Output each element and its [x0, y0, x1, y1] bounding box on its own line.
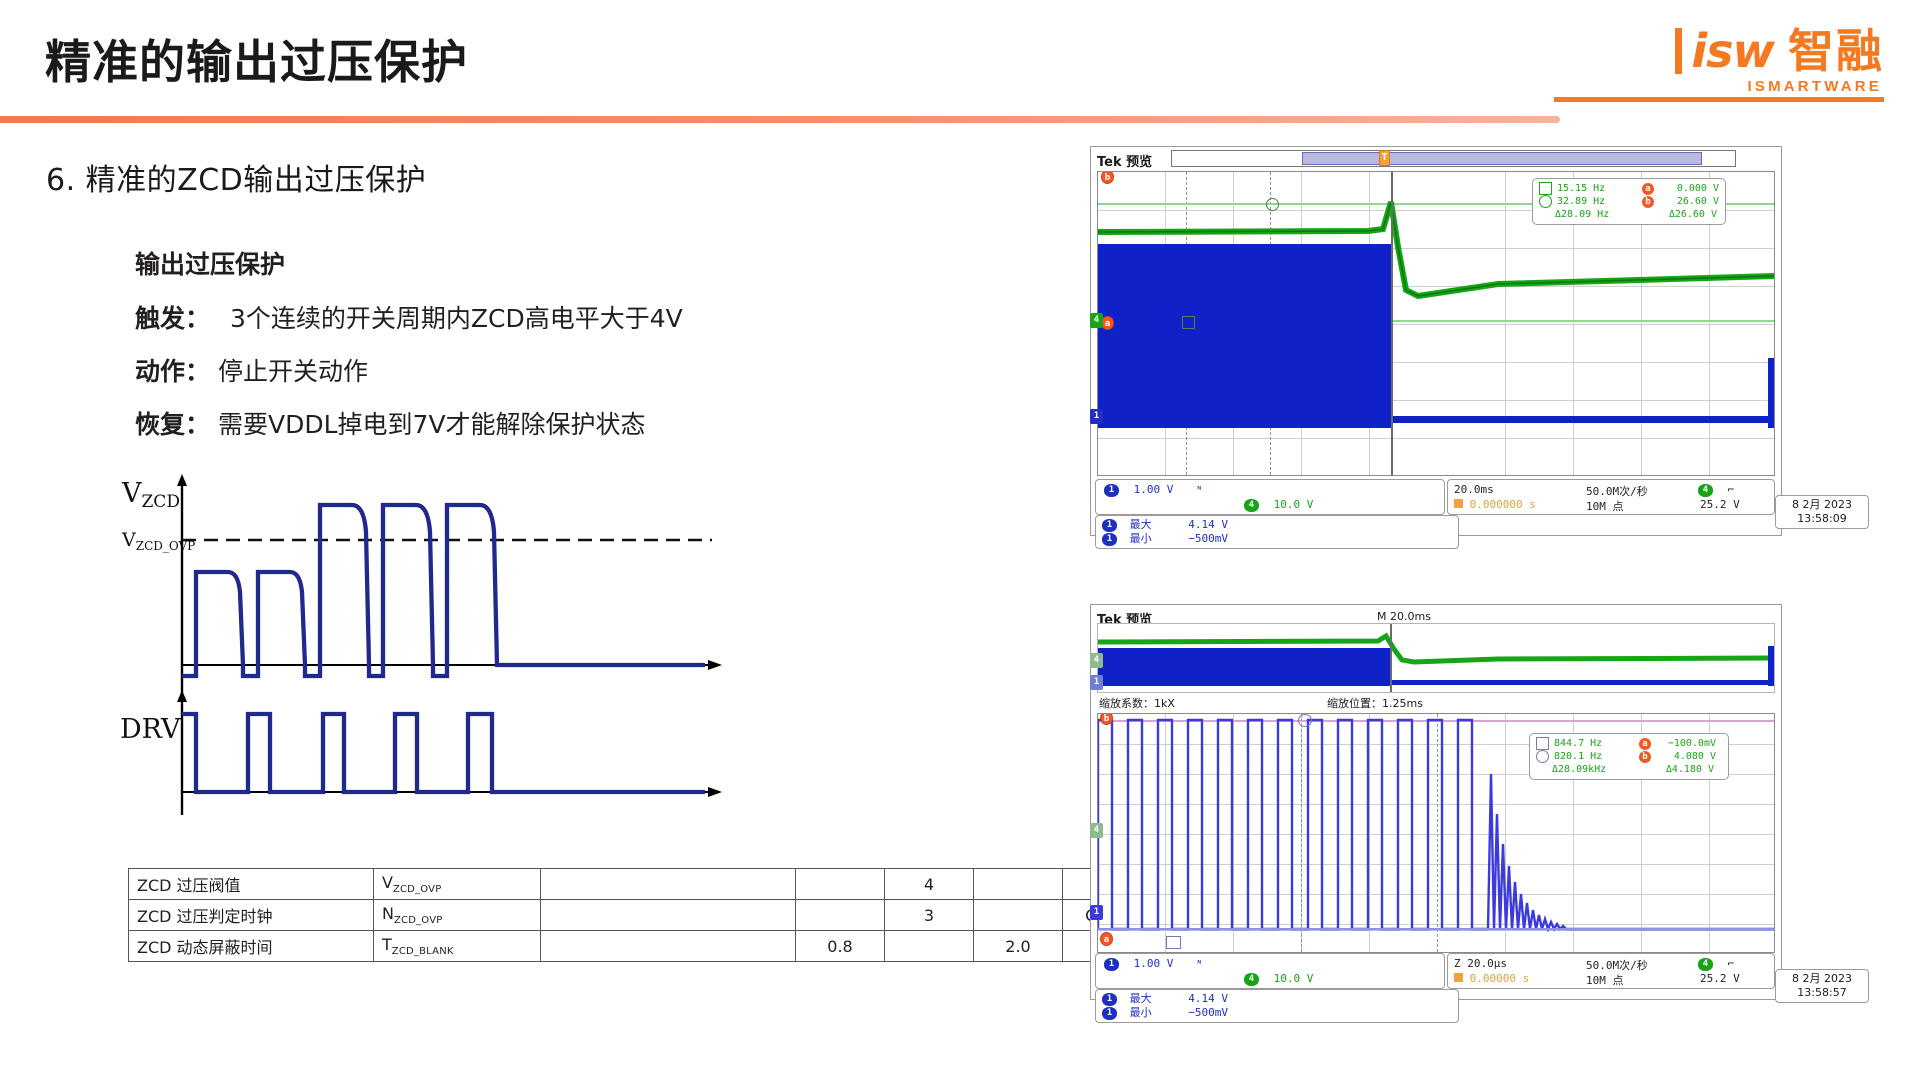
measurement-row-max: 1 最大 4.14 V [1102, 992, 1452, 1006]
table-row: ZCD 过压阀值 VZCD_OVP 4 V [129, 869, 1152, 900]
brand-logo: isw 智融 ISMARTWARE [1554, 28, 1884, 102]
meas-label: 最小 [1130, 532, 1182, 546]
channel1-edge [1768, 358, 1774, 428]
meas-channel-chip: 1 [1102, 1007, 1117, 1020]
meas-value: −500mV [1188, 532, 1258, 546]
graticule-overview [1097, 623, 1775, 693]
channel4-scale: 10.0 V [1274, 972, 1314, 985]
symbol-main: N [382, 904, 394, 923]
cursor-readout-box-top: 15.15 Hz a 0.000 V 32.89 Hz b 26.60 V Δ2… [1532, 178, 1726, 225]
tek-brand-label: Tek 预览 [1097, 151, 1152, 170]
cursor-a-icon: a [1642, 183, 1654, 195]
zoom-factor-label: 缩放系数： [1099, 697, 1154, 710]
channel4-ground-marker[interactable]: 4 [1090, 313, 1103, 328]
capture-date: 8 2月 2023 [1781, 498, 1863, 512]
timebase-status-bottom: Z 20.0μs 0.00000 s 50.0M次/秒 10M 点 4 ⌐ 25… [1447, 953, 1775, 989]
channel1-baseline-overview [1390, 680, 1768, 685]
cursor-delta-volt: Δ4.180 V [1654, 763, 1714, 776]
cell-min [796, 900, 885, 931]
channel1-baseline [1391, 416, 1768, 423]
cell-max [974, 869, 1063, 900]
cell-symbol: TZCD_BLANK [374, 931, 541, 962]
bullet-item-trigger: 触发： 3个连续的开关周期内ZCD高电平大于4V [135, 299, 683, 335]
trigger-position: 0.000000 s [1454, 498, 1536, 511]
cursor-circle-handle-zoom[interactable] [1298, 714, 1312, 727]
channel1-baseline-burst [1098, 420, 1391, 428]
capture-date: 8 2月 2023 [1781, 972, 1863, 986]
cursor-b-volt: 26.60 V [1659, 195, 1719, 208]
trigger-slope-icon: ⌐ [1728, 483, 1735, 496]
meas-channel-chip: 1 [1102, 533, 1117, 546]
trigger-source-chip[interactable]: 4 [1698, 484, 1713, 497]
cursor-a-freq: 844.7 Hz [1554, 737, 1634, 750]
cursor-delta-volt: Δ26.60 V [1657, 208, 1717, 221]
bullet-value: 需要VDDL掉电到7V才能解除保护状态 [218, 405, 646, 441]
cursor-a-icon: a [1639, 738, 1651, 750]
symbol-sub: ZCD_OVP [393, 884, 442, 895]
cursor-row-b: 32.89 Hz b 26.60 V [1539, 195, 1719, 208]
cursor-row-a: 844.7 Hz a −100.0mV [1536, 737, 1722, 750]
table-row: ZCD 动态屏蔽时间 TZCD_BLANK 0.8 2.0 μS [129, 931, 1152, 962]
channel1-ground-marker-overview[interactable]: 1 [1090, 675, 1103, 690]
section-heading: 6. 精准的ZCD输出过压保护 [46, 155, 426, 199]
zoom-factor-note: 缩放系数：1kX [1099, 695, 1175, 711]
cursor-square-icon [1536, 737, 1549, 750]
main-timebase-label: M 20.0ms [1377, 610, 1431, 623]
cell-max [974, 900, 1063, 931]
trigger-position-value: 0.00000 s [1470, 972, 1530, 985]
bullet-item-recovery: 恢复： 需要VDDL掉电到7V才能解除保护状态 [135, 405, 683, 441]
oscilloscope-capture-top: Tek 预览 T [1090, 146, 1782, 536]
meas-value: 4.14 V [1188, 992, 1258, 1006]
spec-table: ZCD 过压阀值 VZCD_OVP 4 V ZCD 过压判定时钟 NZCD_OV… [128, 868, 1152, 962]
bullet-key: 动作： [135, 352, 210, 388]
cursor-delta-freq: Δ28.09kHz [1552, 763, 1632, 776]
cursor-square-handle[interactable] [1182, 316, 1195, 329]
logo-mark-isw: isw [1675, 28, 1774, 74]
record-navigation-window[interactable] [1302, 152, 1702, 165]
zoom-position-label: 缩放位置： [1327, 697, 1382, 710]
cursor-a-volt: −100.0mV [1656, 737, 1716, 750]
cell-condition [541, 869, 796, 900]
sample-rate: 50.0M次/秒 [1586, 483, 1648, 499]
tek-mode: 预览 [1126, 155, 1152, 170]
trigger-line [1391, 172, 1393, 475]
measurement-minmax-bottom: 1 最大 4.14 V 1 最小 −500mV [1095, 989, 1459, 1023]
cell-param-name: ZCD 过压阀值 [129, 869, 374, 900]
cursor-square-icon [1539, 182, 1552, 195]
coupling-icon: ᶰ [1196, 957, 1203, 970]
measurement-row-min: 1 最小 −500mV [1102, 532, 1452, 546]
logo-mark-cn: 智融 [1788, 28, 1884, 74]
spacer-badge [1640, 209, 1652, 221]
logo-underline [1554, 97, 1884, 102]
symbol-main: V [382, 873, 393, 892]
bullet-key: 恢复： [135, 405, 210, 441]
cell-typ: 4 [885, 869, 974, 900]
symbol-sub: ZCD_OVP [394, 915, 443, 926]
capture-time: 13:58:09 [1781, 512, 1863, 526]
zoom-factor-value: 1kX [1154, 697, 1175, 710]
cell-max: 2.0 [974, 931, 1063, 962]
cursor-b-icon: b [1639, 751, 1651, 763]
channel1-burst-overview [1098, 648, 1390, 686]
sample-rate: 50.0M次/秒 [1586, 957, 1648, 973]
cell-typ [885, 931, 974, 962]
tek-brand: Tek [1097, 155, 1122, 170]
cell-condition [541, 900, 796, 931]
record-length: 10M 点 [1586, 972, 1624, 988]
timebase-value: Z 20.0μs [1454, 957, 1507, 970]
measurement-row-min: 1 最小 −500mV [1102, 1006, 1452, 1020]
symbol-main: T [382, 935, 392, 954]
cursor-b-freq: 32.89 Hz [1557, 195, 1637, 208]
cursor-circle-icon [1536, 750, 1549, 763]
cell-symbol: NZCD_OVP [374, 900, 541, 931]
cursor-circle-handle[interactable] [1266, 198, 1279, 211]
title-divider [0, 116, 1560, 123]
cell-condition [541, 931, 796, 962]
bullet-key: 触发： [135, 299, 210, 335]
channel-status-top: 1 1.00 V ᶰ 4 10.0 V [1095, 479, 1445, 515]
cursor-circle-icon [1539, 195, 1552, 208]
meas-label: 最小 [1130, 1006, 1182, 1020]
coupling-icon: ᶰ [1196, 483, 1203, 496]
logo-subtitle: ISMARTWARE [1748, 79, 1883, 94]
spacer-icon [1536, 764, 1547, 775]
spacer-icon [1539, 209, 1550, 220]
datetime-box-top: 8 2月 2023 13:58:09 [1775, 495, 1869, 529]
table-row: ZCD 过压判定时钟 NZCD_OVP 3 Cycle [129, 900, 1152, 931]
oscilloscope-capture-bottom: Tek 预览 M 20.0ms T 4 1 缩放系数：1kX 缩放位置：1.25… [1090, 604, 1782, 1000]
channel4-scale: 10.0 V [1274, 498, 1314, 511]
channel4-chip[interactable]: 4 [1244, 499, 1259, 512]
channel1-scale: 1.00 V [1134, 483, 1174, 496]
trigger-level: 25.2 V [1700, 972, 1740, 985]
bullet-value: 3个连续的开关周期内ZCD高电平大于4V [230, 299, 683, 335]
bullet-value: 停止开关动作 [218, 352, 368, 388]
channel1-scale: 1.00 V [1134, 957, 1174, 970]
trigger-position-marker[interactable]: T [1379, 150, 1390, 166]
trigger-level: 25.2 V [1700, 498, 1740, 511]
spacer-badge [1637, 764, 1649, 776]
channel1-chip[interactable]: 1 [1104, 484, 1119, 497]
cursor-a-volt: 0.000 V [1659, 182, 1719, 195]
cell-min [796, 869, 885, 900]
bullet-heading: 输出过压保护 [135, 245, 683, 281]
meas-channel-chip: 1 [1102, 993, 1117, 1006]
vzcd-label: VZCD [121, 478, 180, 512]
cursor-row-delta: Δ28.09 Hz Δ26.60 V [1539, 208, 1719, 221]
trigger-line-overview [1390, 624, 1392, 692]
drv-trace [182, 714, 705, 792]
zoom-position-value: 1.25ms [1382, 697, 1423, 710]
trigger-position-value: 0.000000 s [1470, 498, 1536, 511]
datetime-box-bottom: 8 2月 2023 13:58:57 [1775, 969, 1869, 1003]
record-length: 10M 点 [1586, 498, 1624, 514]
channel4-ground-marker-overview[interactable]: 4 [1090, 653, 1103, 668]
meas-label: 最大 [1130, 992, 1182, 1006]
measurement-minmax-top: 1 最大 4.14 V 1 最小 −500mV [1095, 515, 1459, 549]
channel1-edge-overview [1768, 646, 1774, 686]
cell-param-name: ZCD 过压判定时钟 [129, 900, 374, 931]
timebase-value: 20.0ms [1454, 483, 1494, 496]
meas-channel-chip: 1 [1102, 519, 1117, 532]
channel1-ground-marker-zoom[interactable]: 1 [1090, 905, 1103, 920]
cursor-row-delta: Δ28.09kHz Δ4.180 V [1536, 763, 1722, 776]
drv-label: DRV [120, 714, 181, 745]
cursor-row-a: 15.15 Hz a 0.000 V [1539, 182, 1719, 195]
cursor-row-b: 820.1 Hz b 4.080 V [1536, 750, 1722, 763]
meas-value: 4.14 V [1188, 518, 1258, 532]
cursor-b-icon: b [1642, 196, 1654, 208]
trigger-source-chip[interactable]: 4 [1698, 958, 1713, 971]
cursor-square-handle-zoom[interactable] [1166, 936, 1181, 949]
record-navigation-bar[interactable] [1171, 150, 1736, 167]
capture-time: 13:58:57 [1781, 986, 1863, 1000]
timing-diagram: VZCD VZCD_OVP DRV [120, 470, 740, 830]
channel4-chip[interactable]: 4 [1244, 973, 1259, 986]
bullet-item-action: 动作： 停止开关动作 [135, 352, 683, 388]
cursor-readout-box-bottom: 844.7 Hz a −100.0mV 820.1 Hz b 4.080 V Δ… [1529, 733, 1729, 780]
zoom-position-note: 缩放位置：1.25ms [1327, 695, 1423, 711]
measurement-row-max: 1 最大 4.14 V [1102, 518, 1452, 532]
meas-value: −500mV [1188, 1006, 1258, 1020]
vzcd-trace [182, 505, 705, 676]
page-title: 精准的输出过压保护 [45, 26, 468, 92]
cursor-a-freq: 15.15 Hz [1557, 182, 1637, 195]
channel-status-bottom: 1 1.00 V ᶰ 4 10.0 V [1095, 953, 1445, 989]
trigger-slope-icon: ⌐ [1728, 957, 1735, 970]
channel4-ground-marker-zoom[interactable]: 4 [1090, 823, 1103, 838]
cursor-b-freq: 820.1 Hz [1554, 750, 1634, 763]
cursor-b-volt: 4.080 V [1656, 750, 1716, 763]
cell-min: 0.8 [796, 931, 885, 962]
channel1-chip[interactable]: 1 [1104, 958, 1119, 971]
cell-symbol: VZCD_OVP [374, 869, 541, 900]
symbol-sub: ZCD_BLANK [392, 946, 454, 957]
trigger-position: 0.00000 s [1454, 972, 1529, 985]
bullet-block: 输出过压保护 触发： 3个连续的开关周期内ZCD高电平大于4V 动作： 停止开关… [135, 245, 683, 458]
cell-param-name: ZCD 动态屏蔽时间 [129, 931, 374, 962]
cell-typ: 3 [885, 900, 974, 931]
channel1-ground-marker[interactable]: 1 [1090, 409, 1103, 424]
meas-label: 最大 [1130, 518, 1182, 532]
cursor-delta-freq: Δ28.09 Hz [1555, 208, 1635, 221]
timebase-status-top: 20.0ms 0.000000 s 50.0M次/秒 10M 点 4 ⌐ 25.… [1447, 479, 1775, 515]
cursor-a-badge-zoom[interactable]: a [1100, 932, 1113, 946]
channel1-burst [1098, 244, 1391, 424]
